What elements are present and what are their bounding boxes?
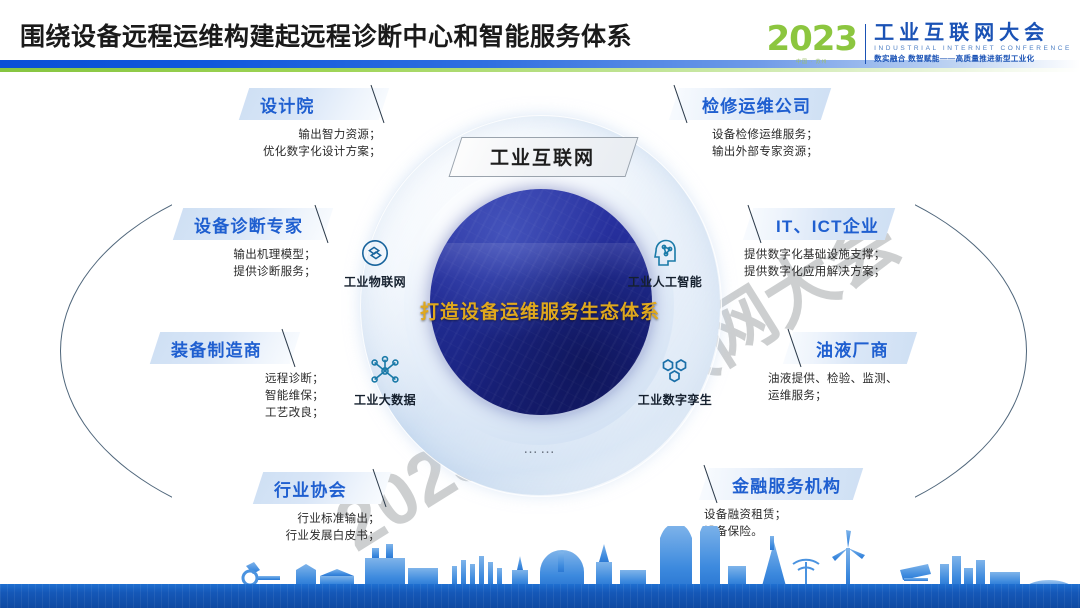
tag-label: IT、ICT企业 bbox=[748, 212, 890, 237]
tag-label: 金融服务机构 bbox=[704, 472, 858, 497]
satellite-label: 工业数字孪生 bbox=[620, 391, 730, 408]
logo-conference-name-cn: 工业互联网大会 bbox=[874, 22, 1072, 44]
block-it-ict-enterprise[interactable]: IT、ICT企业 提供数字化基础设施支撑；提供数字化应用解决方案； bbox=[748, 208, 890, 281]
logo-conference-name-en: INDUSTRIAL INTERNET CONFERENCE bbox=[874, 44, 1072, 53]
logo-slogan: 数实融合 数智赋能——高质量推进新型工业化 bbox=[874, 53, 1072, 64]
satellite-industrial-iot: 工业物联网 bbox=[320, 235, 430, 290]
header-green-bar bbox=[0, 68, 1080, 72]
block-equipment-diagnosis-expert[interactable]: 设备诊断专家 输出机理模型；提供诊断服务； bbox=[178, 208, 328, 281]
block-description: 远程诊断；智能维保；工艺改良； bbox=[265, 371, 415, 422]
tag-label: 油液厂商 bbox=[788, 336, 912, 361]
tag-industry-association[interactable]: 行业协会 bbox=[258, 472, 386, 504]
block-description: 输出机理模型；提供诊断服务； bbox=[158, 247, 316, 281]
slide-root: 围绕设备远程运维构建起远程诊断中心和智能服务体系 2023 中国 · 苏州 工业… bbox=[0, 0, 1080, 608]
tag-financial-service-institution[interactable]: 金融服务机构 bbox=[704, 468, 858, 500]
ellipsis-text: …… bbox=[490, 440, 590, 457]
tag-equipment-diagnosis-expert[interactable]: 设备诊断专家 bbox=[178, 208, 328, 240]
block-design-institute[interactable]: 设计院 输出智力资源；优化数字化设计方案； bbox=[244, 88, 384, 161]
block-description: 提供数字化基础设施支撑；提供数字化应用解决方案； bbox=[744, 247, 934, 281]
tag-label: 检修运维公司 bbox=[674, 92, 826, 117]
tag-maintenance-company[interactable]: 检修运维公司 bbox=[674, 88, 826, 120]
tag-label: 设备诊断专家 bbox=[178, 212, 328, 237]
satellite-label: 工业物联网 bbox=[320, 273, 430, 290]
core-globe-text: 打造设备运维服务生态体系 bbox=[330, 298, 750, 328]
block-description: 输出智力资源；优化数字化设计方案； bbox=[216, 127, 381, 161]
slide-footer bbox=[0, 520, 1080, 608]
block-description: 设备检修运维服务；输出外部专家资源； bbox=[712, 127, 887, 161]
slide-header: 围绕设备远程运维构建起远程诊断中心和智能服务体系 2023 中国 · 苏州 工业… bbox=[0, 0, 1080, 70]
conference-logo: 2023 中国 · 苏州 工业互联网大会 INDUSTRIAL INTERNET… bbox=[766, 22, 1072, 68]
block-maintenance-company[interactable]: 检修运维公司 设备检修运维服务；输出外部专家资源； bbox=[674, 88, 826, 161]
digital-twin-icon bbox=[620, 353, 730, 389]
industrial-iot-icon bbox=[320, 235, 430, 271]
tag-equipment-manufacturer[interactable]: 装备制造商 bbox=[155, 332, 295, 364]
block-oil-fluid-supplier[interactable]: 油液厂商 油液提供、检验、监测、运维服务； bbox=[788, 332, 912, 405]
logo-year-sub: 中国 · 苏州 bbox=[766, 58, 857, 65]
logo-divider bbox=[865, 24, 866, 64]
water-band bbox=[0, 584, 1080, 608]
tag-label: 设计院 bbox=[244, 92, 384, 117]
artificial-intelligence-icon bbox=[610, 235, 720, 271]
center-tag-label: 工业互联网 bbox=[455, 137, 630, 175]
tag-design-institute[interactable]: 设计院 bbox=[244, 88, 384, 120]
block-equipment-manufacturer[interactable]: 装备制造商 远程诊断；智能维保；工艺改良； bbox=[155, 332, 295, 422]
satellite-digital-twin: 工业数字孪生 bbox=[620, 353, 730, 408]
block-description: 油液提供、检验、监测、运维服务； bbox=[768, 371, 943, 405]
satellite-label: 工业人工智能 bbox=[610, 273, 720, 290]
logo-year: 2023 bbox=[766, 22, 857, 56]
tag-it-ict-enterprise[interactable]: IT、ICT企业 bbox=[748, 208, 890, 240]
tag-label: 行业协会 bbox=[258, 476, 386, 501]
satellite-artificial-intelligence: 工业人工智能 bbox=[610, 235, 720, 290]
tag-label: 装备制造商 bbox=[155, 336, 295, 361]
page-title: 围绕设备远程运维构建起远程诊断中心和智能服务体系 bbox=[20, 17, 632, 53]
city-skyline-graphic bbox=[0, 526, 1080, 586]
tag-oil-fluid-supplier[interactable]: 油液厂商 bbox=[788, 332, 912, 364]
